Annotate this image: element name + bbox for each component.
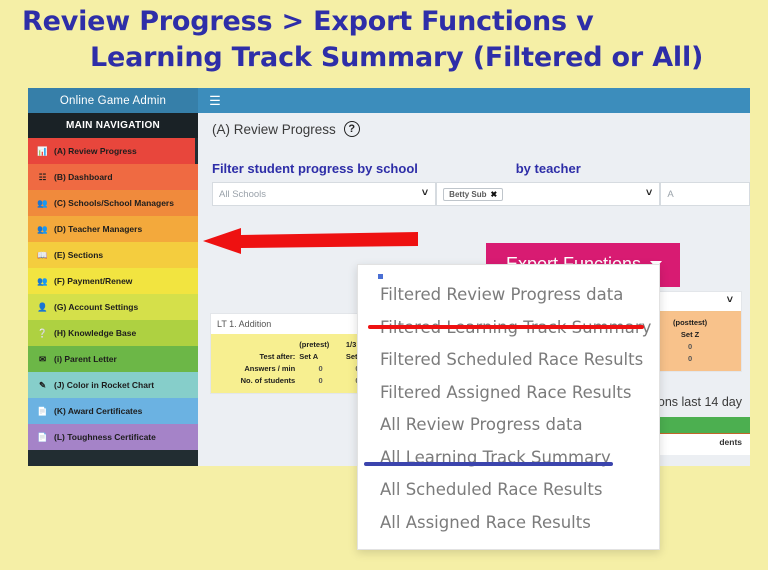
cell-students-pretest: 0 [297,374,344,386]
table-row: (pretest) 1/3 [217,338,371,350]
edit-icon: ✎ [37,380,48,391]
chevron-down-icon: ˅ [422,187,428,199]
sidebar-item-label: (A) Review Progress [54,146,137,156]
extra-select-value: A [667,189,673,200]
school-select-value: All Schools [219,189,266,200]
sidebar-item-label: (H) Knowledge Base [54,328,136,338]
sidebar-item-label: (E) Sections [54,250,103,260]
menu-item-all-review-progress-data[interactable]: All Review Progress data [358,409,659,442]
users-icon: 👥 [37,198,48,209]
users-icon: 👥 [37,276,48,287]
bar-chart-icon: 📊 [37,146,48,157]
close-icon[interactable]: ✖ [491,190,498,199]
sidebar-item-account-settings[interactable]: 👤 (G) Account Settings [28,294,198,320]
sidebar-item-knowledge-base[interactable]: ❔ (H) Knowledge Base [28,320,198,346]
school-filter-label: Filter student progress by school [212,161,436,176]
filter-bar: Filter student progress by school All Sc… [212,161,750,206]
title-line-1: Review Progress > Export Functions v [0,4,768,40]
export-functions-menu[interactable]: Filtered Review Progress data Filtered L… [357,264,660,550]
cell-set-a: Set A [297,350,344,362]
row-label-students: No. of students [217,374,297,386]
sidebar-item-label: (L) Toughness Certificate [54,432,156,442]
sidebar-item-payment-renew[interactable]: 👥 (F) Payment/Renew [28,268,198,294]
school-select[interactable]: All Schools ˅ [212,182,436,206]
content-title: (A) Review Progress [212,122,336,137]
page-title: Review Progress > Export Functions v Lea… [0,0,768,76]
menu-item-all-scheduled-race-results[interactable]: All Scheduled Race Results [358,474,659,507]
teacher-tag-label: Betty Sub [449,190,486,199]
sidebar-item-label: (F) Payment/Renew [54,276,132,286]
sidebar-item-toughness-certificate[interactable]: 📄 (L) Toughness Certificate [28,424,198,450]
sidebar-item-label: (J) Color in Rocket Chart [54,380,154,390]
title-line-2: Learning Track Summary (Filtered or All) [0,40,768,76]
table-row: No. of students 0 0 [217,374,371,386]
table-row: Answers / min 0 0 [217,362,371,374]
sidebar-item-label: (C) Schools/School Managers [54,198,174,208]
learning-track-panel: LT 1. Addition (pretest) 1/3 Test after:… [210,313,378,394]
sidebar: MAIN NAVIGATION 📊 (A) Review Progress ☷ … [28,113,198,466]
app-brand: Online Game Admin [28,88,198,113]
sidebar-item-label: (G) Account Settings [54,302,138,312]
table-row: Test after: Set A Set i [217,350,371,362]
sidebar-item-sections[interactable]: 📖 (E) Sections [28,242,198,268]
help-icon[interactable]: ? [344,121,360,137]
row-label-test-after: Test after: [217,350,297,362]
content-header: (A) Review Progress ? [198,113,750,137]
user-icon: 👤 [37,302,48,313]
hamburger-icon[interactable]: ☰ [203,88,227,113]
menu-marker-dot [378,274,383,279]
cell-answers-pretest: 0 [297,362,344,374]
red-underline-annotation [368,325,644,329]
sidebar-item-schools[interactable]: 👥 (C) Schools/School Managers [28,190,198,216]
teacher-filter: by teacher Betty Sub ✖ ˅ [436,161,660,206]
teacher-filter-label: by teacher [436,161,660,176]
teacher-select[interactable]: Betty Sub ✖ ˅ [436,182,660,206]
book-icon: 📖 [37,250,48,261]
sidebar-item-award-certificates[interactable]: 📄 (K) Award Certificates [28,398,198,424]
menu-item-all-learning-track-summary[interactable]: All Learning Track Summary [358,442,659,475]
blue-underline-annotation [364,462,613,466]
sidebar-item-teacher-managers[interactable]: 👥 (D) Teacher Managers [28,216,198,242]
sidebar-item-review-progress[interactable]: 📊 (A) Review Progress [28,138,198,164]
file-icon: 📄 [37,432,48,443]
extra-filter: A [660,161,750,206]
extra-select[interactable]: A [660,182,750,206]
menu-item-filtered-scheduled-race-results[interactable]: Filtered Scheduled Race Results [358,344,659,377]
envelope-icon: ✉ [37,354,48,365]
menu-item-filtered-assigned-race-results[interactable]: Filtered Assigned Race Results [358,377,659,410]
col-header-pretest: (pretest) [297,338,344,350]
sidebar-item-label: (B) Dashboard [54,172,113,182]
teacher-tag[interactable]: Betty Sub ✖ [443,188,503,201]
annotation-arrow-icon [203,228,418,254]
chevron-down-icon: ˅ [646,187,652,199]
sidebar-item-dashboard[interactable]: ☷ (B) Dashboard [28,164,198,190]
sidebar-item-label: (i) Parent Letter [54,354,117,364]
question-icon: ❔ [37,328,48,339]
sidebar-heading: MAIN NAVIGATION [28,113,198,138]
chevron-down-icon: ˅ [727,294,733,306]
sidebar-item-parent-letter[interactable]: ✉ (i) Parent Letter [28,346,198,372]
sidebar-item-label: (D) Teacher Managers [54,224,142,234]
school-filter: Filter student progress by school All Sc… [212,161,436,206]
file-icon: 📄 [37,406,48,417]
progress-note: ons last 14 day [658,395,742,409]
students-label: dents [719,437,742,447]
sidebar-item-label: (K) Award Certificates [54,406,142,416]
sidebar-item-color-rocket-chart[interactable]: ✎ (J) Color in Rocket Chart [28,372,198,398]
app-topbar: Online Game Admin ☰ [28,88,750,113]
row-label-answers: Answers / min [217,362,297,374]
users-icon: 👥 [37,224,48,235]
learning-track-table: (pretest) 1/3 Test after: Set A Set i An… [211,334,377,393]
dashboard-icon: ☷ [37,172,48,183]
menu-item-filtered-review-progress-data[interactable]: Filtered Review Progress data [358,279,659,312]
learning-track-title: LT 1. Addition [211,314,377,334]
menu-item-all-assigned-race-results[interactable]: All Assigned Race Results [358,507,659,540]
